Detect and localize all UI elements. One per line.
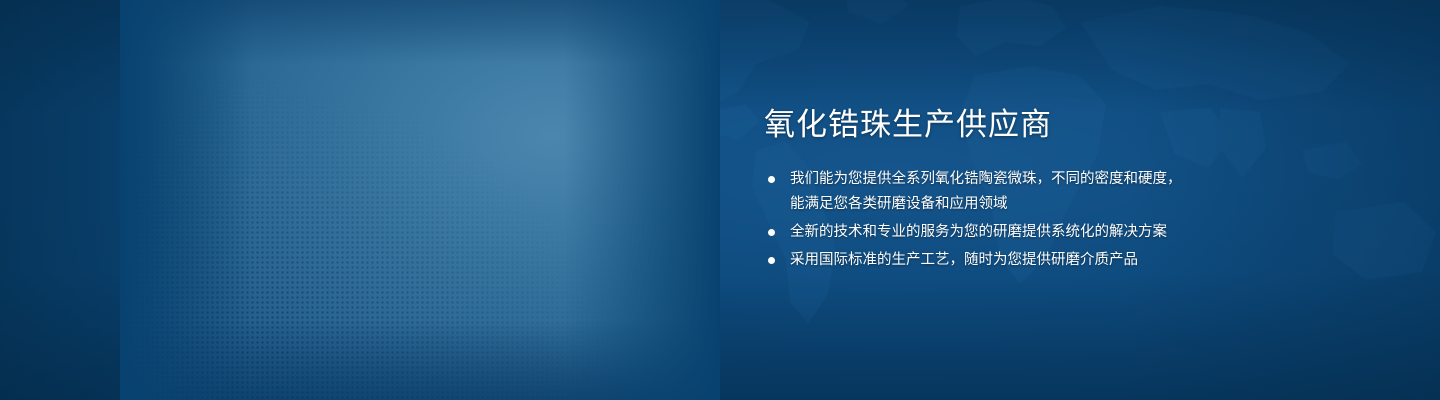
hero-banner: 氧化锆珠生产供应商 我们能为您提供全系列氧化锆陶瓷微珠，不同的密度和硬度， 能满… xyxy=(0,0,1440,400)
page-title: 氧化锆珠生产供应商 xyxy=(764,105,1284,145)
list-item: 我们能为您提供全系列氧化锆陶瓷微珠，不同的密度和硬度， 能满足您各类研磨设备和应… xyxy=(764,167,1284,217)
bullet-line: 全新的技术和专业的服务为您的研磨提供系统化的解决方案 xyxy=(790,220,1284,245)
bullet-line: 能满足您各类研磨设备和应用领域 xyxy=(790,192,1284,217)
bullet-dot-icon xyxy=(768,176,775,183)
zirconia-bead-photo xyxy=(120,0,720,400)
list-item: 全新的技术和专业的服务为您的研磨提供系统化的解决方案 xyxy=(764,220,1284,245)
list-item: 采用国际标准的生产工艺，随时为您提供研磨介质产品 xyxy=(764,248,1284,273)
bullet-line: 我们能为您提供全系列氧化锆陶瓷微珠，不同的密度和硬度， xyxy=(790,167,1284,192)
feature-list: 我们能为您提供全系列氧化锆陶瓷微珠，不同的密度和硬度， 能满足您各类研磨设备和应… xyxy=(764,167,1284,273)
bullet-dot-icon xyxy=(768,229,775,236)
bullet-line: 采用国际标准的生产工艺，随时为您提供研磨介质产品 xyxy=(790,248,1284,273)
banner-content: 氧化锆珠生产供应商 我们能为您提供全系列氧化锆陶瓷微珠，不同的密度和硬度， 能满… xyxy=(764,105,1284,276)
bead-photo-edge-fade xyxy=(120,0,720,400)
bullet-dot-icon xyxy=(768,257,775,264)
